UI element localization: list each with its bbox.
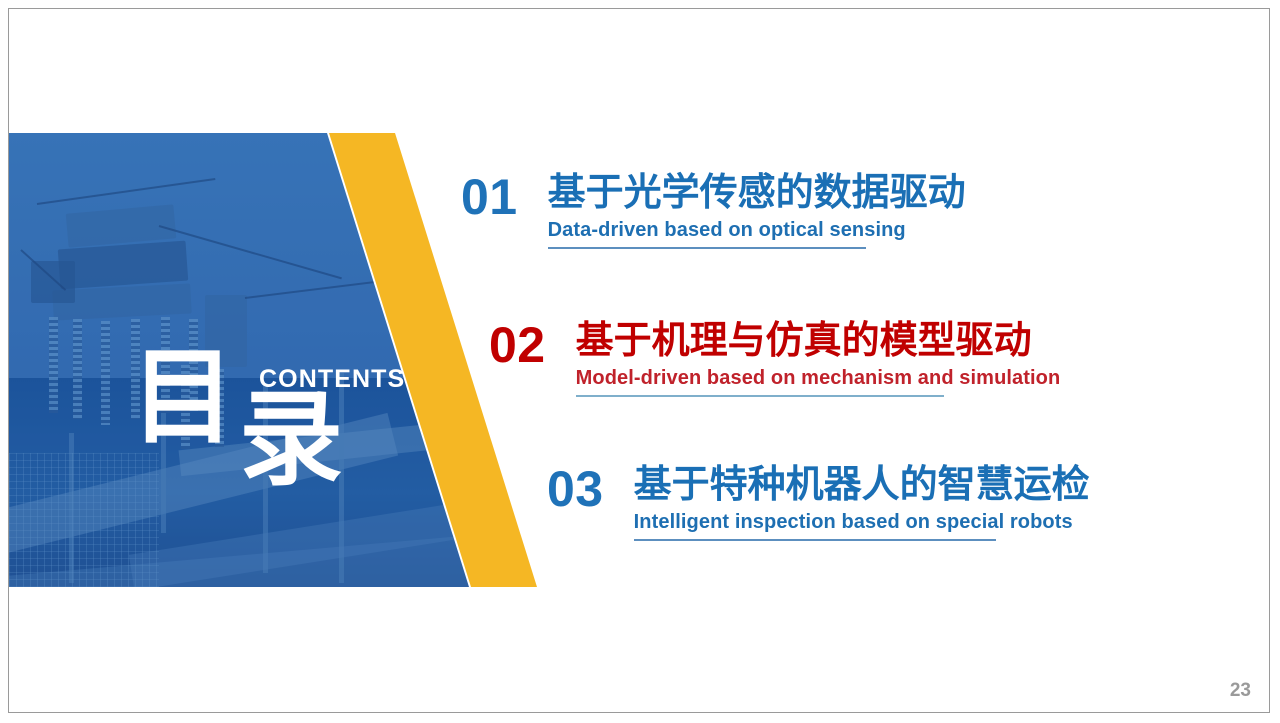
toc-item-02-text-group: 基于机理与仿真的模型驱动 Model-driven based on mecha… — [576, 317, 1061, 397]
toc-item-02-title-cn: 基于机理与仿真的模型驱动 — [576, 317, 1061, 363]
slide-canvas: 目 CONTENTS 录 01 基于光学传感的数据驱动 Data-driven … — [8, 8, 1270, 713]
toc-item-02-underline — [576, 395, 944, 397]
toc-list: 01 基于光学传感的数据驱动 Data-driven based on opti… — [449, 159, 1249, 579]
toc-item-02[interactable]: 02 基于机理与仿真的模型驱动 Model-driven based on me… — [489, 317, 1060, 397]
page-number: 23 — [1230, 680, 1251, 702]
toc-item-03-text-group: 基于特种机器人的智慧运检 Intelligent inspection base… — [634, 461, 1090, 541]
toc-item-01[interactable]: 01 基于光学传感的数据驱动 Data-driven based on opti… — [461, 169, 966, 249]
toc-item-03-number: 03 — [547, 461, 634, 517]
toc-item-03-title-cn: 基于特种机器人的智慧运检 — [634, 461, 1090, 507]
toc-item-01-underline — [548, 247, 866, 249]
toc-item-03[interactable]: 03 基于特种机器人的智慧运检 Intelligent inspection b… — [547, 461, 1090, 541]
toc-item-03-title-en: Intelligent inspection based on special … — [634, 507, 1090, 535]
toc-item-02-number: 02 — [489, 317, 576, 373]
toc-item-01-title-cn: 基于光学传感的数据驱动 — [548, 169, 966, 215]
contents-cjk-lu: 录 — [239, 387, 343, 491]
toc-item-01-text-group: 基于光学传感的数据驱动 Data-driven based on optical… — [548, 169, 966, 249]
contents-cjk-mu: 目 — [131, 345, 235, 449]
toc-item-01-number: 01 — [461, 169, 548, 225]
toc-item-02-title-en: Model-driven based on mechanism and simu… — [576, 363, 1061, 391]
toc-item-01-title-en: Data-driven based on optical sensing — [548, 215, 966, 243]
contents-title-group: 目 CONTENTS 录 — [131, 345, 431, 475]
toc-item-03-underline — [634, 539, 996, 541]
